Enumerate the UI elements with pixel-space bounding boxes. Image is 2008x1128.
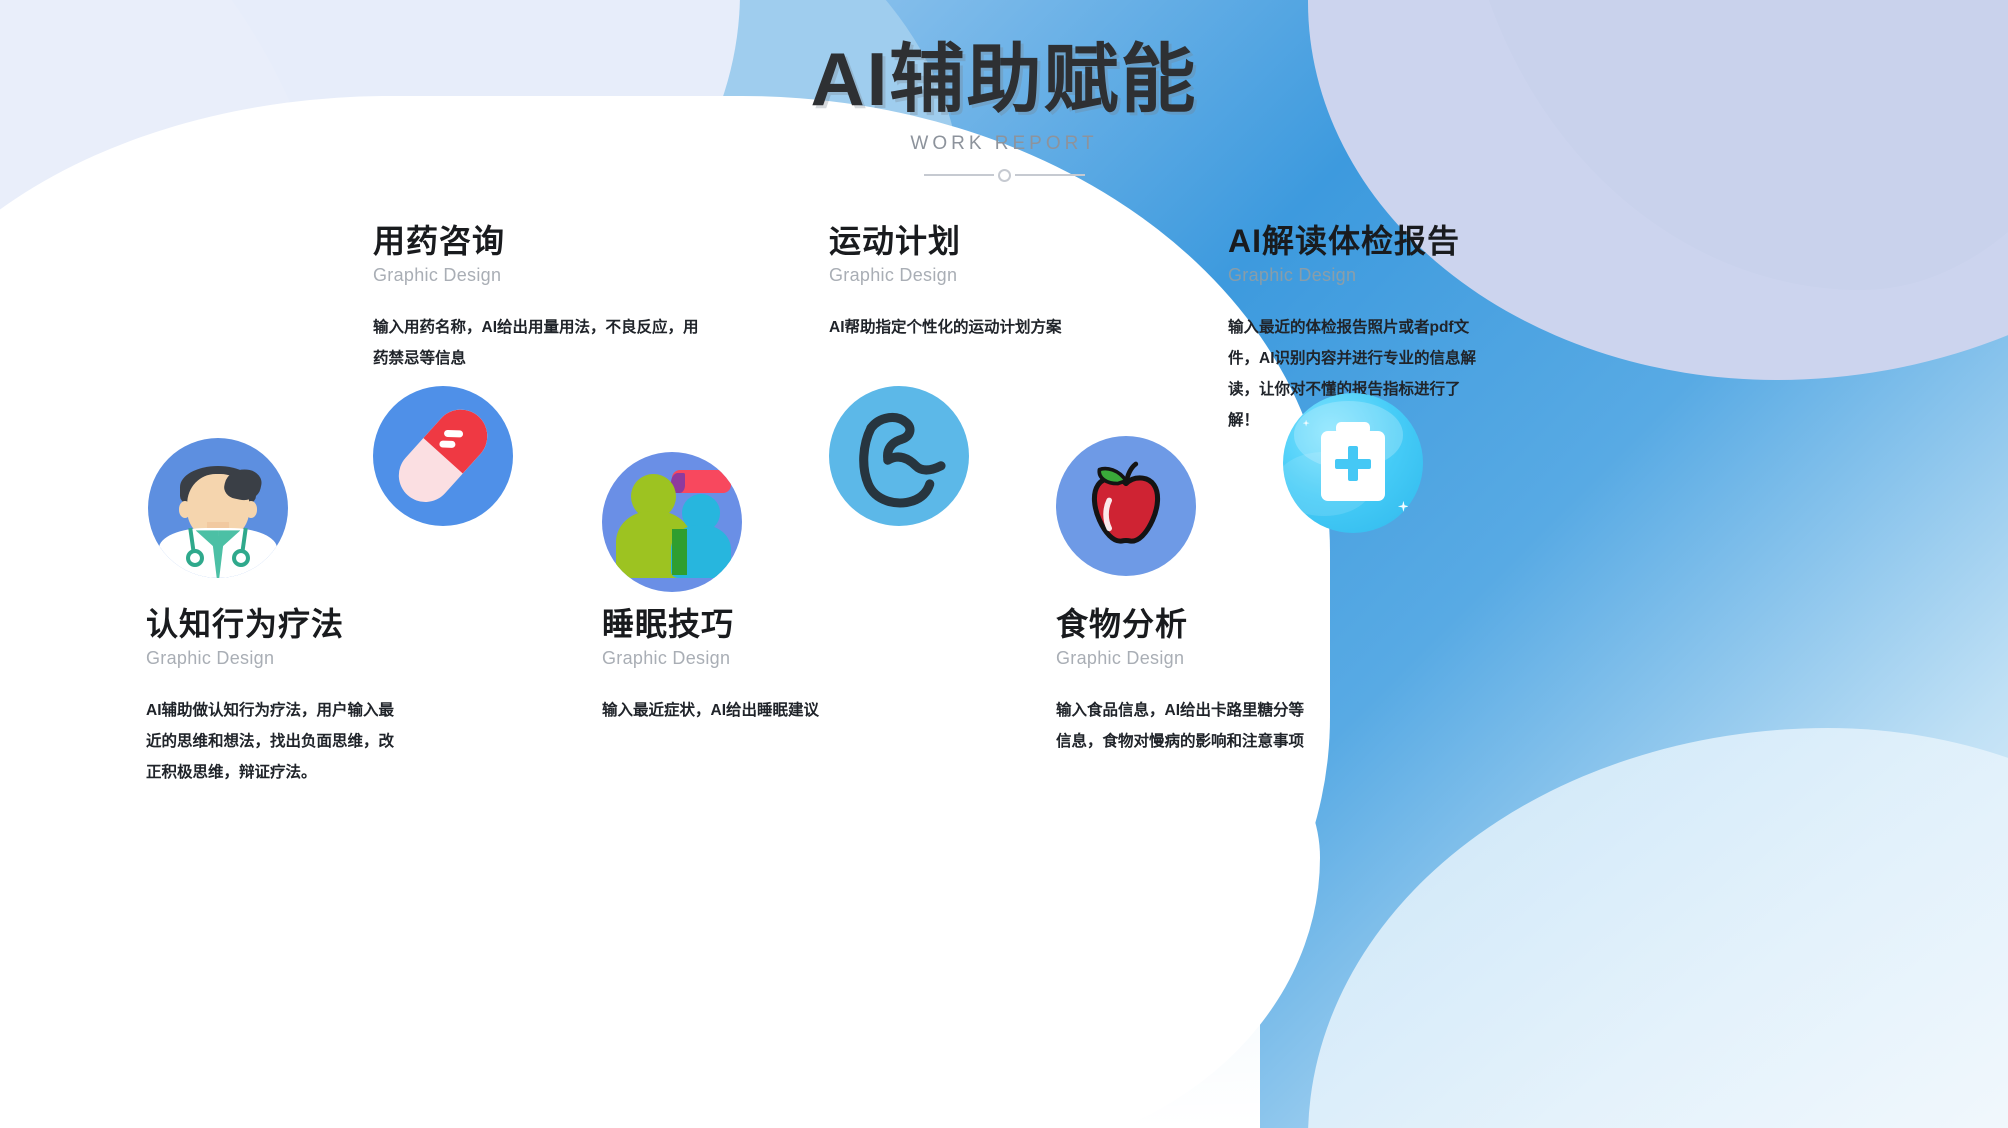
slide-canvas: AI辅助赋能 WORK REPORT <box>0 0 2008 1128</box>
card-subtitle: Graphic Design <box>1056 648 1386 669</box>
card-subtitle: Graphic Design <box>146 648 476 669</box>
card-sleep-tips[interactable]: 睡眠技巧 Graphic Design 输入最近症状，AI给出睡眠建议 <box>602 605 902 726</box>
white-bottom-fade <box>0 868 1260 1128</box>
doctor-icon <box>148 438 288 578</box>
people-talking-icon <box>602 452 742 592</box>
card-title: 睡眠技巧 <box>602 605 902 643</box>
card-description: 输入用药名称，AI给出用量用法，不良反应，用药禁忌等信息 <box>373 312 703 374</box>
clipboard-clip <box>1336 422 1370 435</box>
card-title: 用药咨询 <box>373 222 703 260</box>
person-overlap-shadow <box>672 529 687 575</box>
page-title: AI辅助赋能 <box>0 40 2008 119</box>
card-subtitle: Graphic Design <box>602 648 902 669</box>
card-exercise-plan[interactable]: 运动计划 Graphic Design AI帮助指定个性化的运动计划方案 <box>829 222 1089 343</box>
medical-clipboard-icon <box>1283 393 1423 533</box>
muscle-glyph <box>829 386 969 526</box>
stethoscope-bell-right <box>232 549 250 567</box>
medical-cross-horizontal <box>1335 459 1371 469</box>
pill-icon <box>373 386 513 526</box>
card-title: 认知行为疗法 <box>146 605 476 643</box>
card-description: 输入食品信息，AI给出卡路里糖分等信息，食物对慢病的影响和注意事项 <box>1056 695 1318 757</box>
divider-line-right <box>1015 174 1085 176</box>
card-subtitle: Graphic Design <box>373 265 703 286</box>
pill-capsule <box>388 399 499 514</box>
page-subtitle: WORK REPORT <box>0 133 2008 155</box>
divider-dot-icon <box>998 169 1011 182</box>
card-subtitle: Graphic Design <box>829 265 1089 286</box>
card-subtitle: Graphic Design <box>1228 265 1518 286</box>
stethoscope-bell-left <box>186 549 204 567</box>
card-description: 输入最近症状，AI给出睡眠建议 <box>602 695 902 726</box>
card-title: 食物分析 <box>1056 605 1386 643</box>
pill-highlight-2 <box>439 441 455 449</box>
card-description: AI辅助做认知行为疗法，用户输入最近的思维和想法，找出负面思维，改正积极思维，辩… <box>146 695 400 788</box>
card-medication-consult[interactable]: 用药咨询 Graphic Design 输入用药名称，AI给出用量用法，不良反应… <box>373 222 703 374</box>
card-food-analysis[interactable]: 食物分析 Graphic Design 输入食品信息，AI给出卡路里糖分等信息，… <box>1056 605 1386 757</box>
muscle-icon <box>829 386 969 526</box>
header-divider <box>0 169 2008 182</box>
pill-highlight-1 <box>444 429 463 437</box>
card-cbt-therapy[interactable]: 认知行为疗法 Graphic Design AI辅助做认知行为疗法，用户输入最近… <box>146 605 476 788</box>
divider-line-left <box>924 174 994 176</box>
card-description: AI帮助指定个性化的运动计划方案 <box>829 312 1089 343</box>
card-title: 运动计划 <box>829 222 1089 260</box>
apple-glyph <box>1056 436 1196 576</box>
slide-header: AI辅助赋能 WORK REPORT <box>0 40 2008 182</box>
card-title: AI解读体检报告 <box>1228 222 1518 260</box>
apple-icon <box>1056 436 1196 576</box>
